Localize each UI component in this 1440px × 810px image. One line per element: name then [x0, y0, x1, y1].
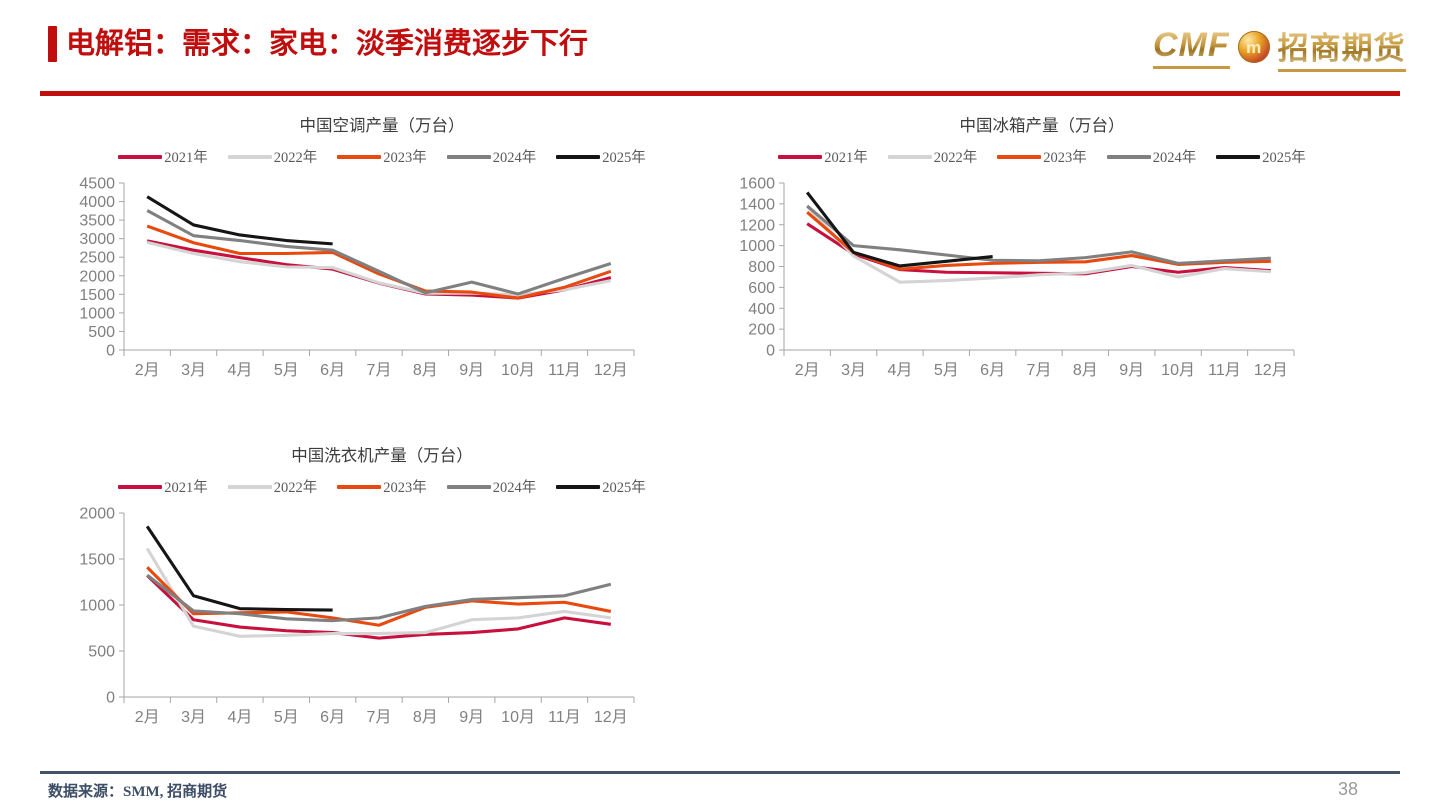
- x-axis-tick-label: 7月: [367, 362, 392, 379]
- y-axis-tick-label: 2500: [79, 250, 115, 267]
- legend-label: 2021年: [824, 146, 868, 167]
- legend-swatch-icon: [337, 155, 381, 159]
- y-axis-tick-label: 3500: [79, 213, 115, 230]
- y-axis-tick-label: 800: [748, 259, 775, 276]
- x-axis-tick-label: 11月: [548, 362, 581, 379]
- legend-item-2025年[interactable]: 2025年: [556, 146, 646, 167]
- legend-label: 2025年: [1262, 146, 1306, 167]
- legend-label: 2022年: [274, 146, 318, 167]
- plot-area: 0500100015002000250030003500400045002月3月…: [52, 173, 652, 388]
- legend-swatch-icon: [447, 155, 491, 159]
- chart-title: 中国冰箱产量（万台）: [712, 112, 1372, 136]
- x-axis-tick-label: 9月: [1119, 362, 1144, 379]
- series-line-2024年: [807, 206, 1271, 263]
- logo-company-name: 招商期货: [1278, 23, 1406, 72]
- chart-legend: 2021年2022年2023年2024年2025年: [52, 476, 712, 497]
- y-axis-tick-label: 200: [748, 322, 775, 339]
- chart-title: 中国洗衣机产量（万台）: [52, 442, 712, 466]
- x-axis-tick-label: 7月: [1027, 362, 1052, 379]
- legend-item-2025年[interactable]: 2025年: [556, 476, 646, 497]
- legend-label: 2023年: [383, 146, 427, 167]
- chart-washing-machine: 中国洗衣机产量（万台）2021年2022年2023年2024年2025年0500…: [52, 442, 712, 735]
- legend-swatch-icon: [997, 155, 1041, 159]
- legend-label: 2024年: [493, 476, 537, 497]
- brand-logo: CMF m 招商期货: [1153, 24, 1406, 70]
- legend-swatch-icon: [556, 485, 600, 489]
- x-axis-tick-label: 10月: [501, 362, 535, 379]
- y-axis-tick-label: 600: [748, 280, 775, 297]
- x-axis-tick-label: 5月: [274, 362, 299, 379]
- legend-item-2021年[interactable]: 2021年: [118, 476, 208, 497]
- title-accent-bar: [48, 26, 57, 62]
- legend-item-2022年[interactable]: 2022年: [228, 146, 318, 167]
- legend-item-2023年[interactable]: 2023年: [997, 146, 1087, 167]
- legend-label: 2024年: [493, 146, 537, 167]
- series-line-2025年: [807, 192, 992, 266]
- x-axis-tick-label: 4月: [887, 362, 912, 379]
- y-axis-tick-label: 1500: [79, 287, 115, 304]
- y-axis-tick-label: 500: [88, 324, 115, 341]
- x-axis-tick-label: 2月: [795, 362, 820, 379]
- chart-refrigerator: 中国冰箱产量（万台）2021年2022年2023年2024年2025年02004…: [712, 112, 1372, 388]
- y-axis-tick-label: 1500: [79, 552, 115, 569]
- legend-item-2023年[interactable]: 2023年: [337, 476, 427, 497]
- x-axis-tick-label: 12月: [1254, 362, 1288, 379]
- slide-header: 电解铝：需求：家电：淡季消费逐步下行 CMF m 招商期货: [0, 0, 1440, 100]
- x-axis-tick-label: 9月: [459, 362, 484, 379]
- legend-swatch-icon: [1107, 155, 1151, 159]
- y-axis-tick-label: 1600: [739, 176, 775, 193]
- legend-label: 2021年: [164, 476, 208, 497]
- logo-emblem-icon: m: [1238, 31, 1270, 63]
- x-axis-tick-label: 2月: [135, 362, 160, 379]
- legend-item-2023年[interactable]: 2023年: [337, 146, 427, 167]
- y-axis-tick-label: 2000: [79, 268, 115, 285]
- legend-swatch-icon: [118, 155, 162, 159]
- y-axis-tick-label: 4000: [79, 194, 115, 211]
- legend-swatch-icon: [228, 155, 272, 159]
- legend-item-2024年[interactable]: 2024年: [1107, 146, 1197, 167]
- x-axis-tick-label: 6月: [320, 362, 345, 379]
- x-axis-tick-label: 6月: [320, 709, 345, 726]
- legend-item-2021年[interactable]: 2021年: [118, 146, 208, 167]
- chart-air-conditioner: 中国空调产量（万台）2021年2022年2023年2024年2025年05001…: [52, 112, 712, 388]
- legend-item-2024年[interactable]: 2024年: [447, 146, 537, 167]
- chart-title: 中国空调产量（万台）: [52, 112, 712, 136]
- y-axis-tick-label: 0: [766, 343, 775, 360]
- legend-label: 2023年: [383, 476, 427, 497]
- legend-label: 2023年: [1043, 146, 1087, 167]
- legend-swatch-icon: [556, 155, 600, 159]
- chart-legend: 2021年2022年2023年2024年2025年: [52, 146, 712, 167]
- legend-label: 2022年: [274, 476, 318, 497]
- legend-label: 2025年: [602, 476, 646, 497]
- y-axis-tick-label: 1000: [79, 305, 115, 322]
- x-axis-tick-label: 4月: [227, 362, 252, 379]
- y-axis-tick-label: 3000: [79, 231, 115, 248]
- x-axis-tick-label: 5月: [274, 709, 299, 726]
- legend-swatch-icon: [1216, 155, 1260, 159]
- y-axis-tick-label: 4500: [79, 176, 115, 193]
- x-axis-tick-label: 6月: [980, 362, 1005, 379]
- x-axis-tick-label: 10月: [1161, 362, 1195, 379]
- legend-swatch-icon: [337, 485, 381, 489]
- header-divider: [40, 91, 1400, 96]
- y-axis-tick-label: 1000: [739, 238, 775, 255]
- x-axis-tick-label: 3月: [181, 362, 206, 379]
- legend-item-2022年[interactable]: 2022年: [888, 146, 978, 167]
- x-axis-tick-label: 10月: [501, 709, 535, 726]
- legend-label: 2022年: [934, 146, 978, 167]
- legend-swatch-icon: [228, 485, 272, 489]
- legend-item-2022年[interactable]: 2022年: [228, 476, 318, 497]
- x-axis-tick-label: 8月: [1073, 362, 1098, 379]
- plot-area: 020040060080010001200140016002月3月4月5月6月7…: [712, 173, 1312, 388]
- legend-swatch-icon: [778, 155, 822, 159]
- chart-legend: 2021年2022年2023年2024年2025年: [712, 146, 1372, 167]
- page-number: 38: [1328, 779, 1368, 800]
- legend-swatch-icon: [118, 485, 162, 489]
- footer-divider: [40, 771, 1400, 774]
- series-line-2021年: [147, 576, 611, 639]
- legend-item-2021年[interactable]: 2021年: [778, 146, 868, 167]
- page-title: 电解铝：需求：家电：淡季消费逐步下行: [66, 26, 588, 62]
- x-axis-tick-label: 5月: [934, 362, 959, 379]
- legend-item-2025年[interactable]: 2025年: [1216, 146, 1306, 167]
- x-axis-tick-label: 12月: [594, 362, 628, 379]
- title-bar: 电解铝：需求：家电：淡季消费逐步下行: [48, 26, 588, 62]
- x-axis-tick-label: 11月: [548, 709, 581, 726]
- x-axis-tick-label: 12月: [594, 709, 628, 726]
- logo-emblem-glyph: m: [1246, 39, 1261, 56]
- legend-label: 2025年: [602, 146, 646, 167]
- y-axis-tick-label: 0: [106, 690, 115, 707]
- logo-cmf-text: CMF: [1153, 26, 1230, 69]
- x-axis-tick-label: 3月: [841, 362, 866, 379]
- legend-item-2024年[interactable]: 2024年: [447, 476, 537, 497]
- x-axis-tick-label: 2月: [135, 709, 160, 726]
- source-note: 数据来源：SMM, 招商期货: [48, 780, 227, 801]
- legend-swatch-icon: [447, 485, 491, 489]
- x-axis-tick-label: 11月: [1208, 362, 1241, 379]
- x-axis-tick-label: 8月: [413, 709, 438, 726]
- plot-area: 05001000150020002月3月4月5月6月7月8月9月10月11月12…: [52, 503, 652, 735]
- legend-label: 2021年: [164, 146, 208, 167]
- y-axis-tick-label: 500: [88, 644, 115, 661]
- x-axis-tick-label: 4月: [227, 709, 252, 726]
- y-axis-tick-label: 1400: [739, 196, 775, 213]
- y-axis-tick-label: 0: [106, 343, 115, 360]
- legend-label: 2024年: [1153, 146, 1197, 167]
- x-axis-tick-label: 7月: [367, 709, 392, 726]
- y-axis-tick-label: 1200: [739, 217, 775, 234]
- legend-swatch-icon: [888, 155, 932, 159]
- x-axis-tick-label: 8月: [413, 362, 438, 379]
- y-axis-tick-label: 1000: [79, 598, 115, 615]
- y-axis-tick-label: 2000: [79, 506, 115, 523]
- y-axis-tick-label: 400: [748, 301, 775, 318]
- x-axis-tick-label: 9月: [459, 709, 484, 726]
- x-axis-tick-label: 3月: [181, 709, 206, 726]
